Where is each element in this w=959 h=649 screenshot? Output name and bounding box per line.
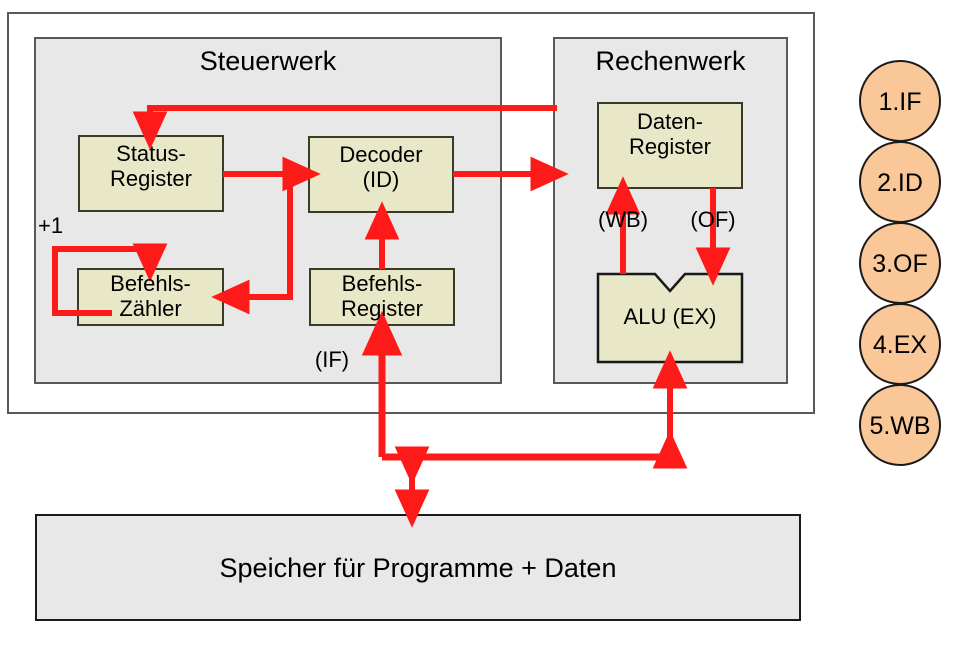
diagram-svg (0, 0, 959, 649)
memory-box (36, 515, 800, 620)
block-status-register (79, 136, 223, 211)
stage-circle-id[interactable] (860, 142, 940, 222)
stage-circle-of[interactable] (860, 223, 940, 303)
block-befehls-zaehler (78, 269, 223, 325)
stage-circle-wb[interactable] (860, 385, 940, 465)
block-decoder (309, 137, 453, 212)
block-befehls-register (310, 269, 454, 325)
stage-circle-ex[interactable] (860, 304, 940, 384)
stage-circle-if[interactable] (860, 61, 940, 141)
block-daten-register (598, 103, 742, 188)
diagram-canvas: Steuerwerk Rechenwerk Status- Register D… (0, 0, 959, 649)
